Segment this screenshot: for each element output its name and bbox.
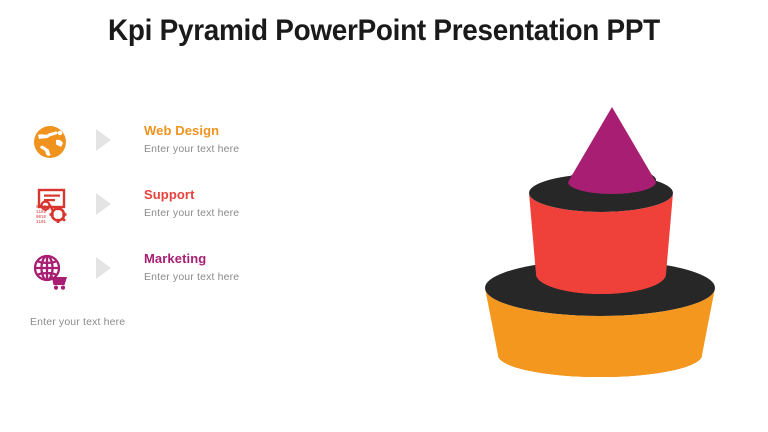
play-triangle-icon bbox=[92, 254, 114, 282]
list-item-label: Web Design bbox=[144, 123, 239, 139]
list-item[interactable]: 01 0 1101 0010 1101 bbox=[26, 182, 326, 246]
globe-cart-icon bbox=[28, 248, 72, 292]
settings-document-icon: 01 0 1101 0010 1101 bbox=[28, 184, 72, 228]
pyramid-chart bbox=[455, 92, 745, 387]
list-item-text: Marketing Enter your text here bbox=[144, 251, 239, 285]
list-item-label: Support bbox=[144, 187, 239, 203]
list-item-subtitle: Enter your text here bbox=[144, 270, 239, 285]
feature-list: Web Design Enter your text here 01 0 110… bbox=[26, 118, 326, 310]
list-item-text: Support Enter your text here bbox=[144, 187, 239, 221]
svg-text:1101: 1101 bbox=[36, 211, 47, 215]
list-item-text: Web Design Enter your text here bbox=[144, 123, 239, 157]
footer-note: Enter your text here bbox=[30, 316, 125, 328]
svg-text:1101: 1101 bbox=[36, 221, 47, 225]
list-item-subtitle: Enter your text here bbox=[144, 142, 239, 157]
list-item[interactable]: Web Design Enter your text here bbox=[26, 118, 326, 182]
pyramid-level-top bbox=[568, 107, 656, 194]
list-item-subtitle: Enter your text here bbox=[144, 206, 239, 221]
svg-text:0010: 0010 bbox=[36, 216, 47, 220]
play-triangle-icon bbox=[92, 126, 114, 154]
page-title: Kpi Pyramid PowerPoint Presentation PPT bbox=[27, 14, 741, 48]
play-triangle-icon bbox=[92, 190, 114, 218]
list-item-label: Marketing bbox=[144, 251, 239, 267]
slide-canvas: Kpi Pyramid PowerPoint Presentation PPT bbox=[0, 0, 768, 432]
list-item[interactable]: Marketing Enter your text here bbox=[26, 246, 326, 310]
globe-icon bbox=[28, 120, 72, 164]
